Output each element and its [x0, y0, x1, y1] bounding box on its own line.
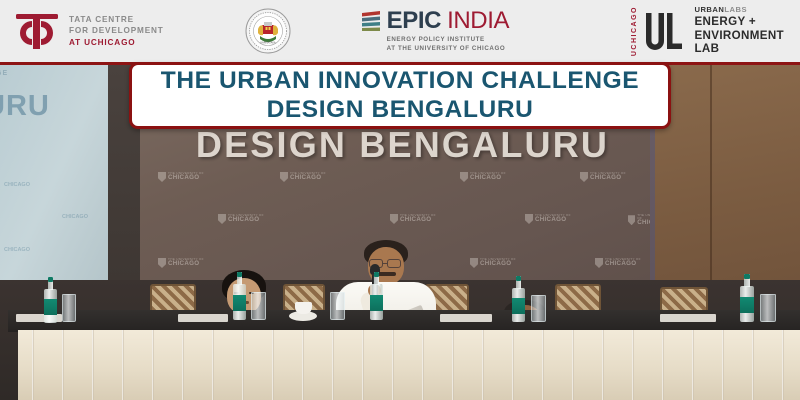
- drinking-glass: [760, 294, 776, 322]
- urban-labs-monogram-icon: [643, 11, 685, 51]
- paper-document: [660, 314, 716, 322]
- uchicago-shield-icon: [595, 258, 603, 268]
- tata-centre-wordmark: TATA CENTRE FOR DEVELOPMENT AT UCHICAGO: [69, 14, 164, 49]
- energy-lab-line-1: ENERGY +: [694, 15, 784, 28]
- event-title-line-1: THE URBAN INNOVATION CHALLENGE: [161, 67, 640, 96]
- labs-text: LABS: [724, 5, 747, 14]
- drinking-glass: [62, 294, 76, 322]
- event-banner-graphic: TATA CENTRE FOR DEVELOPMENT AT UCHICAGO …: [0, 0, 800, 400]
- uchicago-shield-icon: [158, 172, 166, 182]
- tata-line-1: TATA CENTRE: [69, 14, 164, 26]
- teacup: [295, 302, 312, 314]
- epic-sub-line-2: AT THE UNIVERSITY OF CHICAGO: [387, 45, 509, 54]
- uchicago-vertical-text: UCHICAGO: [631, 6, 638, 56]
- uchicago-shield-icon: [158, 258, 166, 268]
- epic-bars-icon: [360, 10, 382, 32]
- shield-bottom-text: CHICAGO: [470, 175, 506, 181]
- water-bottle: [233, 272, 246, 320]
- shield-bottom-text: CHICAGO: [605, 261, 641, 267]
- urban-labs-logo: UCHICAGO URBANLABS ENERGY + ENVIRONMENT …: [631, 6, 784, 56]
- shield-bottom-text: CHICAGO: [480, 261, 516, 267]
- table-skirt-pleats: [18, 330, 800, 400]
- eyeglasses-bridge-icon: [383, 263, 387, 264]
- tata-centre-logo: TATA CENTRE FOR DEVELOPMENT AT UCHICAGO: [14, 11, 164, 51]
- water-bottle: [512, 276, 525, 322]
- tata-line-3: AT UCHICAGO: [69, 37, 164, 49]
- event-title-line-2: DESIGN BENGALURU: [267, 96, 534, 125]
- shield-bottom-text: CHICAGO: [290, 175, 326, 181]
- uchicago-shield-icon: [525, 214, 533, 224]
- shield-bottom-text: CHICAGO: [400, 217, 436, 223]
- water-bottle: [370, 272, 383, 320]
- shield-bottom-text: CHICAGO: [590, 175, 626, 181]
- shield-bottom-text: CHICAGO: [535, 217, 571, 223]
- urban-text: URBAN: [694, 5, 724, 14]
- shield-bottom-text: CHICAGO: [228, 217, 264, 223]
- svg-text:KARNATAKA: KARNATAKA: [260, 41, 276, 45]
- uchicago-shield-icon: [280, 172, 288, 182]
- drinking-glass: [531, 295, 546, 322]
- uchicago-shield-icon: [628, 215, 635, 225]
- urban-labs-wordmark: URBANLABS: [694, 6, 784, 15]
- epic-sub-line-1: ENERGY POLICY INSTITUTE: [387, 36, 509, 45]
- epic-india-logo: EPICINDIA ENERGY POLICY INSTITUTE AT THE…: [360, 9, 509, 54]
- shield-bottom-text: CHICAGO: [168, 261, 204, 267]
- shield-bottom-text: CHICAGO: [168, 175, 204, 181]
- energy-lab-line-3: LAB: [694, 42, 784, 55]
- uchicago-shield-icon: [460, 172, 468, 182]
- uchicago-shield-icon: [218, 214, 226, 224]
- uchicago-shield-icon: [470, 258, 478, 268]
- energy-lab-line-2: ENVIRONMENT: [694, 29, 784, 42]
- drinking-glass: [330, 292, 345, 320]
- tata-centre-mark-icon: [14, 11, 60, 51]
- uchicago-shield-icon: [580, 172, 588, 182]
- water-bottle: [740, 274, 754, 322]
- conference-table-skirt: [18, 330, 800, 400]
- sponsor-logo-bar: TATA CENTRE FOR DEVELOPMENT AT UCHICAGO …: [0, 0, 800, 62]
- eyeglasses-right-lens-icon: [387, 259, 401, 268]
- uchicago-shield-icon: [390, 214, 398, 224]
- event-title-banner: THE URBAN INNOVATION CHALLENGE DESIGN BE…: [129, 62, 671, 129]
- paper-document: [178, 314, 228, 322]
- india-wordmark: INDIA: [447, 7, 509, 34]
- epic-subtitle: ENERGY POLICY INSTITUTE AT THE UNIVERSIT…: [387, 36, 509, 54]
- karnataka-emblem-icon: KARNATAKA: [244, 7, 292, 55]
- paper-document: [440, 314, 492, 322]
- water-bottle: [44, 277, 57, 323]
- tata-line-2: FOR DEVELOPMENT: [69, 25, 164, 37]
- epic-wordmark: EPIC: [387, 7, 441, 34]
- drinking-glass: [251, 292, 266, 320]
